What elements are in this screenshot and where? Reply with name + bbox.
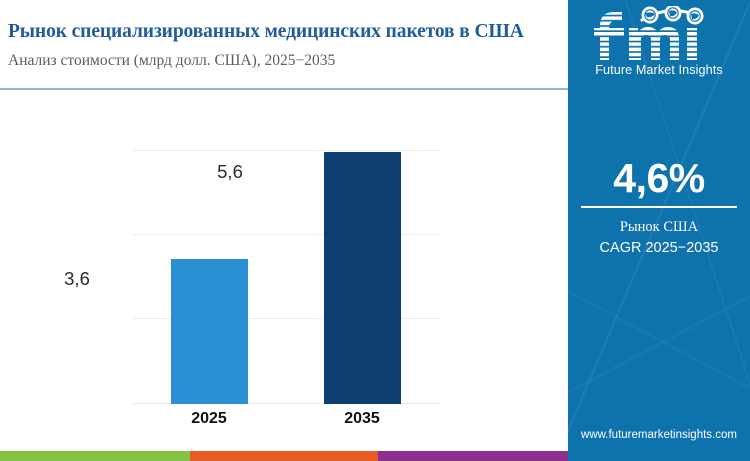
website-url[interactable]: www.futuremarketinsights.com: [568, 429, 750, 441]
cagr-period-label: CAGR 2025−2035: [568, 240, 750, 256]
bar-value-label-2025: 3,6: [27, 268, 127, 290]
logo-tagline: Future Market Insights: [568, 63, 750, 77]
cagr-value: 4,6%: [568, 155, 750, 202]
infographic-page: Рынок специализированных медицинских пак…: [0, 0, 750, 461]
bar-chart: 3,6 5,6 2025 2035: [0, 92, 568, 440]
strip-segment-orange: [190, 451, 378, 461]
bottom-color-strip: [0, 451, 568, 461]
page-subtitle: Анализ стоимости (млрд долл. США), 2025−…: [8, 52, 335, 70]
bar-value-label-2035: 5,6: [180, 161, 280, 183]
category-label-2035: 2035: [312, 410, 412, 428]
fmi-logo-icon: [584, 6, 734, 62]
chart-plot-area: [132, 150, 440, 404]
fmi-logo: Future Market Insights: [568, 6, 750, 80]
gridline: [132, 150, 440, 151]
strip-segment-green: [0, 451, 190, 461]
cagr-market-label: Рынок США: [568, 219, 750, 236]
cagr-divider: [581, 206, 737, 208]
bar-2035[interactable]: [324, 152, 401, 404]
header-divider: [0, 88, 568, 90]
category-label-2025: 2025: [159, 410, 259, 428]
bar-2025[interactable]: [171, 259, 248, 404]
header: Рынок специализированных медицинских пак…: [0, 0, 568, 90]
side-panel: Future Market Insights 4,6% Рынок США CA…: [568, 0, 750, 461]
strip-segment-purple: [378, 451, 568, 461]
page-title: Рынок специализированных медицинских пак…: [8, 21, 524, 43]
